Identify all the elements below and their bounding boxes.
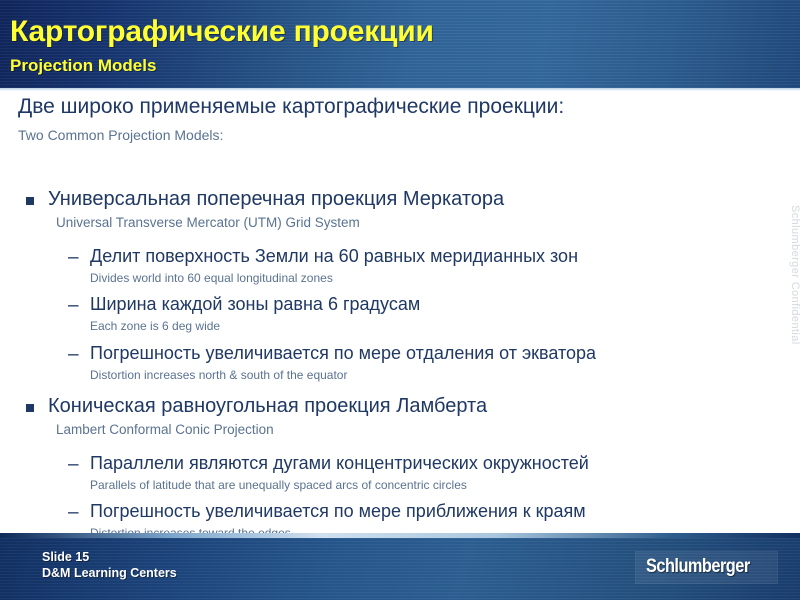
- bullet-level1-label-russian: Коническая равноугольная проекция Ламбер…: [48, 395, 487, 418]
- dash-bullet-icon: –: [68, 296, 79, 315]
- page-title-russian: Картографические проекции: [10, 15, 434, 49]
- dash-bullet-icon: –: [68, 345, 79, 364]
- slide: Картографические проекции Projection Mod…: [0, 0, 800, 600]
- confidential-watermark: Schlumberger Confidential: [789, 205, 800, 345]
- bullet-level2-label-english: Divides world into 60 equal longitudinal…: [90, 271, 333, 285]
- slide-header: Картографические проекции Projection Mod…: [0, 0, 800, 88]
- bullet-level2-label-russian: Параллели являются дугами концентрически…: [90, 453, 589, 474]
- bullet-level2-label-english: Distortion increases north & south of th…: [90, 368, 347, 382]
- slide-number: Slide 15: [42, 550, 89, 564]
- bullet-level2-label-russian: Ширина каждой зоны равна 6 градусам: [90, 294, 420, 315]
- schlumberger-logo-text: Schlumberger: [646, 556, 750, 578]
- bullet-level1-label-english: Universal Transverse Mercator (UTM) Grid…: [56, 215, 360, 230]
- dash-bullet-icon: –: [68, 503, 79, 522]
- square-bullet-icon: [26, 404, 34, 412]
- slide-footer: Slide 15 D&M Learning Centers Schlumberg…: [0, 533, 800, 600]
- lead-text-english: Two Common Projection Models:: [18, 127, 223, 143]
- square-bullet-icon: [26, 197, 34, 205]
- bullet-level1-label-russian: Универсальная поперечная проекция Меркат…: [48, 188, 504, 211]
- bullet-level2-label-russian: Погрешность увеличивается по мере отдале…: [90, 343, 596, 364]
- schlumberger-logo: Schlumberger: [635, 551, 778, 584]
- lead-text-russian: Две широко применяемые картографические …: [18, 95, 564, 119]
- bullet-level1-label-english: Lambert Conformal Conic Projection: [56, 422, 274, 437]
- bullet-level2-label-russian: Делит поверхность Земли на 60 равных мер…: [90, 246, 578, 267]
- bullet-level2-label-russian: Погрешность увеличивается по мере прибли…: [90, 501, 586, 522]
- organization-label: D&M Learning Centers: [42, 566, 177, 580]
- bullet-level2-label-english: Each zone is 6 deg wide: [90, 319, 220, 333]
- bullet-level2-label-english: Parallels of latitude that are unequally…: [90, 478, 467, 492]
- page-title-english: Projection Models: [10, 56, 156, 76]
- dash-bullet-icon: –: [68, 248, 79, 267]
- dash-bullet-icon: –: [68, 455, 79, 474]
- header-divider: [0, 88, 800, 91]
